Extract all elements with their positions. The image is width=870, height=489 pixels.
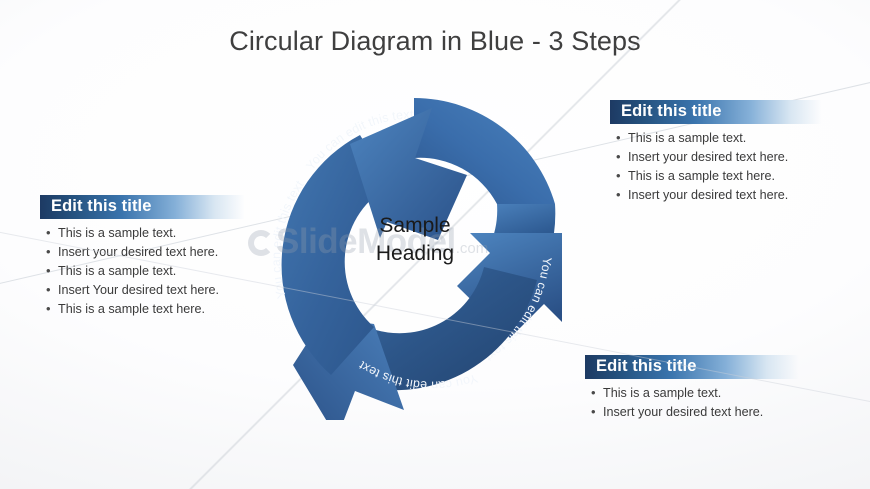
- circular-diagram: You can edit this text You can edit this…: [252, 80, 582, 420]
- list-item: Insert your desired text here.: [585, 403, 825, 422]
- list-item: This is a sample text.: [585, 384, 825, 403]
- list-item: This is a sample text here.: [40, 300, 276, 319]
- block-left-title[interactable]: Edit this title: [40, 195, 245, 219]
- text-block-left[interactable]: Edit this title This is a sample text. I…: [40, 195, 276, 319]
- list-item: Insert your desired text here.: [40, 243, 276, 262]
- block-top-right-bullets: This is a sample text. Insert your desir…: [610, 129, 842, 205]
- list-item: Insert Your desired text here.: [40, 281, 276, 300]
- text-block-bottom-right[interactable]: Edit this title This is a sample text. I…: [585, 355, 825, 422]
- slide-canvas: Circular Diagram in Blue - 3 Steps: [0, 0, 870, 489]
- block-bottom-right-bullets: This is a sample text. Insert your desir…: [585, 384, 825, 422]
- page-title: Circular Diagram in Blue - 3 Steps: [0, 26, 870, 57]
- list-item: This is a sample text.: [610, 129, 842, 148]
- list-item: This is a sample text.: [40, 262, 276, 281]
- list-item: Insert your desired text here.: [610, 148, 842, 167]
- list-item: This is a sample text.: [40, 224, 276, 243]
- block-top-right-title[interactable]: Edit this title: [610, 100, 822, 124]
- list-item: Insert your desired text here.: [610, 186, 842, 205]
- block-left-bullets: This is a sample text. Insert your desir…: [40, 224, 276, 319]
- block-bottom-right-title[interactable]: Edit this title: [585, 355, 799, 379]
- text-block-top-right[interactable]: Edit this title This is a sample text. I…: [610, 100, 842, 205]
- list-item: This is a sample text here.: [610, 167, 842, 186]
